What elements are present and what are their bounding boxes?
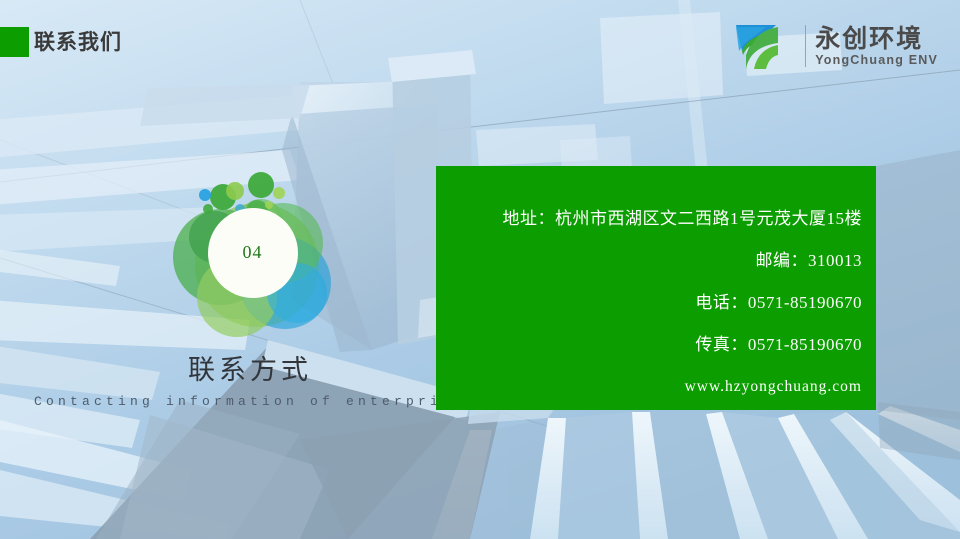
contact-line-website[interactable]: www.hzyongchuang.com — [450, 366, 862, 408]
logo-divider — [805, 25, 806, 67]
section-subtitle: Contacting information of enterprise — [0, 394, 500, 409]
logo-chinese-name: 永创环境 — [815, 25, 938, 53]
section-number-badge: 04 — [165, 165, 340, 340]
contact-info-panel: 地址：杭州市西湖区文二西路1号元茂大厦15楼 邮编：310013 电话：0571… — [436, 166, 876, 410]
contact-line-postcode: 邮编：310013 — [450, 240, 862, 282]
badge-number-label: 04 — [165, 165, 340, 340]
logo-english-name: YongChuang ENV — [815, 53, 938, 68]
contact-line-phone: 电话：0571-85190670 — [450, 282, 862, 324]
logo-text: 永创环境 YongChuang ENV — [815, 25, 938, 68]
company-logo: 永创环境 YongChuang ENV — [732, 20, 938, 72]
yongchuang-leaf-logo-icon — [732, 21, 796, 71]
contact-line-address: 地址：杭州市西湖区文二西路1号元茂大厦15楼 — [450, 198, 862, 240]
header-title: 联系我们 — [34, 27, 122, 57]
header-accent-square — [0, 27, 29, 57]
section-title: 联系方式 — [0, 348, 500, 387]
contact-line-fax: 传真：0571-85190670 — [450, 324, 862, 366]
slide-header: 联系我们 永创环境 YongChuang ENV — [0, 0, 960, 85]
slide-canvas: 联系我们 永创环境 YongChuang ENV — [0, 0, 960, 539]
